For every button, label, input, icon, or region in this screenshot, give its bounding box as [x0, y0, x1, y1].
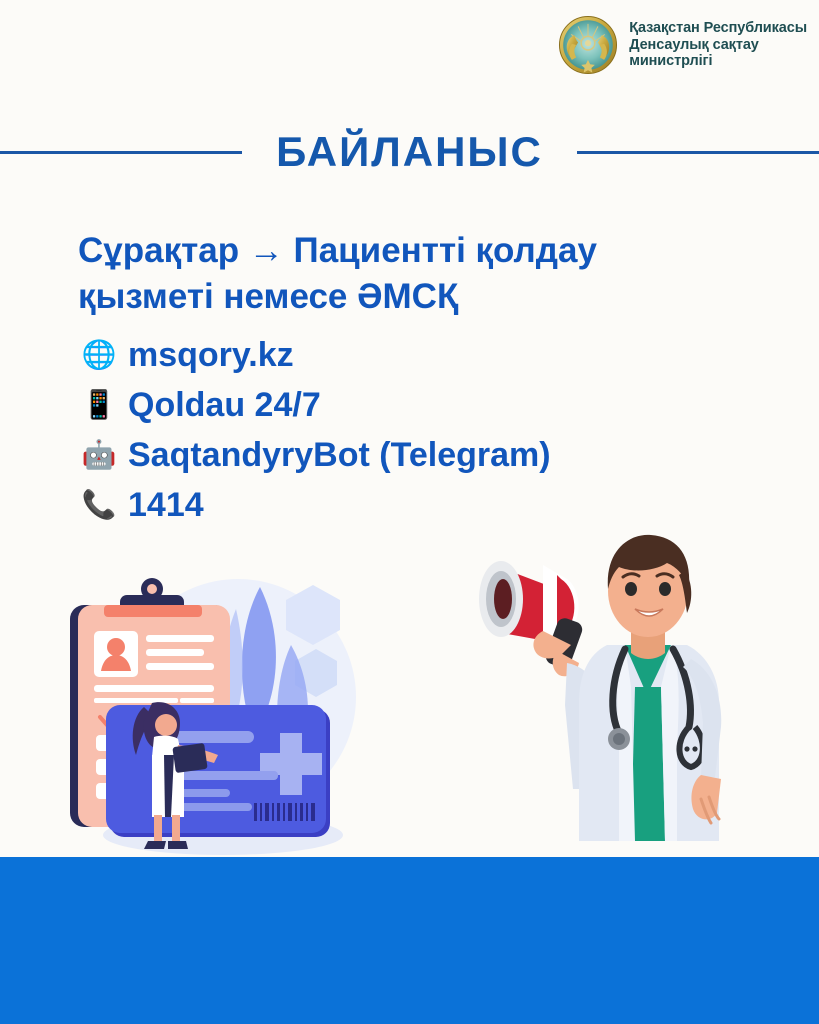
kazakhstan-coat-of-arms-icon [557, 14, 619, 76]
ministry-line-3: министрлігі [629, 53, 807, 70]
lead-line-2: қызметі немесе ӘМСҚ [78, 274, 698, 320]
doctor-with-megaphone-illustration [439, 527, 799, 857]
ministry-line-2: Денсаулық сақтау [629, 37, 807, 54]
title-rule-right [577, 151, 819, 154]
globe-icon: 🌐 [82, 338, 116, 372]
ministry-name: Қазақстан Республикасы Денсаулық сақтау … [629, 20, 807, 70]
title-rule-left [0, 151, 242, 154]
contact-label-app[interactable]: Qoldau 24/7 [128, 386, 321, 425]
list-item[interactable]: 🌐 msqory.kz [82, 330, 782, 380]
page-title-row: БАЙЛАНЫС [0, 126, 819, 178]
contact-label-telegram-bot[interactable]: SaqtandyryBot (Telegram) [128, 436, 551, 475]
lead-line-1: Сұрақтар → Пациентті қолдау [78, 228, 698, 274]
contact-info-poster: Қазақстан Республикасы Денсаулық сақтау … [0, 0, 819, 1024]
ministry-logo-block: Қазақстан Республикасы Денсаулық сақтау … [557, 14, 807, 76]
contact-list: 🌐 msqory.kz 📱 Qoldau 24/7 🤖 SaqtandyryBo… [82, 330, 782, 530]
telephone-receiver-icon: 📞 [82, 488, 116, 522]
robot-icon: 🤖 [82, 438, 116, 472]
list-item[interactable]: 📞 1414 [82, 480, 782, 530]
contact-label-hotline[interactable]: 1414 [128, 486, 204, 525]
lead-paragraph: Сұрақтар → Пациентті қолдау қызметі неме… [78, 228, 698, 320]
bottom-color-band [0, 857, 819, 1024]
ministry-line-1: Қазақстан Республикасы [629, 20, 807, 37]
list-item[interactable]: 📱 Qoldau 24/7 [82, 380, 782, 430]
list-item[interactable]: 🤖 SaqtandyryBot (Telegram) [82, 430, 782, 480]
mobile-phone-icon: 📱 [82, 388, 116, 422]
patient-clipboard-and-insurance-card-illustration [48, 557, 378, 857]
contact-label-website[interactable]: msqory.kz [128, 336, 294, 375]
page-title: БАЙЛАНЫС [276, 128, 543, 176]
